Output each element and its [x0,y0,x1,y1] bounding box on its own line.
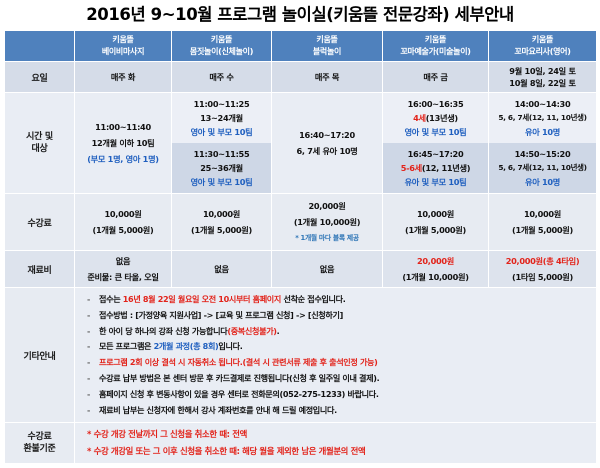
row-fee: 수강료 10,000원 (1개월 5,000원) 10,000원 (1개월 5,… [5,194,597,251]
fee-cell-2-amount: 10,000원 [203,208,240,220]
other-info-item-run: 접수방법 : [가정양육 지원사업] -> [교육 및 프로그램 신청] -> … [99,310,343,320]
day-cell-2: 매주 수 [172,62,272,93]
time-cell-1: 11:00~11:40 12개월 이하 10팀 (부모 1명, 영아 1명) [75,93,172,194]
header-program-3: 키움뜰 블럭놀이 [272,31,383,62]
time-cell-5-bottom: 14:50~15:20 5, 6, 7세(12, 11, 10년생) 유아 10… [489,143,596,193]
header-program-1: 키움뜰 베이비마사지 [75,31,172,62]
fee-cell-4-amount: 10,000원 [417,208,454,220]
day-cell-5-line1: 9월 10일, 24일 토 [489,65,596,77]
row-label-time-line1: 시간 및 [5,131,74,143]
other-info-item-run: 선착순 접수입니다. [281,294,345,304]
refund-policy-text: * 수강 개강 전날까지 그 신청을 취소한 때: 전액 * 수강 개강일 또는… [75,423,597,464]
material-cell-2: 없음 [172,251,272,288]
material-cell-3-amount: 없음 [320,263,334,275]
header-program-4-line1: 키움뜰 [383,34,488,46]
time-cell-4: 16:00~16:35 4세(13년생) 영아 및 부모 10팀 16:45~1… [383,93,489,194]
row-label-day: 요일 [5,62,75,93]
fee-cell-5-sub: (1개월 5,000원) [512,224,573,236]
time-cell-5-bottom-time: 14:50~15:20 [515,148,571,160]
fee-cell-5: 10,000원 (1개월 5,000원) [489,194,597,251]
header-program-2-line2: 몸짓놀이(신체놀이) [172,46,271,58]
material-cell-1: 없음 준비물: 큰 타올, 오일 [75,251,172,288]
time-cell-5-top-time: 14:00~14:30 [515,98,571,110]
day-cell-3-line1: 매주 목 [272,71,382,83]
other-info-item: -수강료 납부 방법은 본 센터 방문 후 카드결제로 진행됩니다(신청 후 일… [87,371,596,387]
bullet-dash-icon: - [87,403,99,419]
time-cell-4-bottom-age-red: 5-6세 [401,163,422,173]
time-cell-4-top: 16:00~16:35 4세(13년생) 영아 및 부모 10팀 [383,93,488,143]
material-cell-4-amount: 20,000원 [417,255,454,267]
time-cell-5-bottom-target: 유아 10명 [525,176,560,188]
time-cell-4-bottom: 16:45~17:20 5-6세(12, 11년생) 유아 및 부모 10팀 [383,143,488,193]
header-program-3-line2: 블럭놀이 [272,46,382,58]
time-cell-2-bottom-time: 11:30~11:55 [194,148,250,160]
other-info-item-run: 입니다. [218,341,242,351]
material-cell-5-amount: 20,000원(총 4타임) [506,255,580,267]
fee-cell-3: 20,000원 (1개월 10,000원) * 1개월 마다 블록 제공 [272,194,383,251]
material-cell-4: 20,000원 (1개월 10,000원) [383,251,489,288]
header-corner-cell [5,31,75,62]
material-cell-3: 없음 [272,251,383,288]
row-material-fee: 재료비 없음 준비물: 큰 타올, 오일 없음 없음 20,000원 [5,251,597,288]
day-cell-5: 9월 10일, 24일 토 10월 8일, 22일 토 [489,62,597,93]
row-label-refund-policy: 수강료 환불기준 [5,423,75,464]
other-info-item-run: 모든 프로그램은 [99,341,154,351]
refund-policy-line-1: * 수강 개강 전날까지 그 신청을 취소한 때: 전액 [87,426,596,443]
other-info-item-run: . [277,326,280,336]
time-cell-4-top-time: 16:00~16:35 [408,98,464,110]
page-title: 2016년 9~10월 프로그램 놀이실(키움뜰 전문강좌) 세부안내 [0,0,600,30]
day-cell-1: 매주 화 [75,62,172,93]
time-cell-5-top-target: 유아 10명 [525,126,560,138]
other-info-item: -모든 프로그램은 2개월 과정(총 8회)입니다. [87,339,596,355]
header-program-3-line1: 키움뜰 [272,34,382,46]
other-info-item: -접수는 16년 8월 22일 월요일 오전 10시부터 홈페이지 선착순 접수… [87,292,596,308]
other-info-item-run: 16년 8월 22일 월요일 오전 10시부터 홈페이지 [123,294,281,304]
time-cell-2-top-age: 13~24개월 [200,112,243,124]
header-program-5-line1: 키움뜰 [489,34,596,46]
other-info-item-run: 2개월 과정(총 8회) [154,341,219,351]
day-cell-2-line1: 매주 수 [172,71,271,83]
fee-cell-1-amount: 10,000원 [104,208,141,220]
time-cell-3: 16:40~17:20 6, 7세 유아 10명 [272,93,383,194]
row-label-time-line2: 대상 [5,143,74,155]
material-cell-5: 20,000원(총 4타임) (1타임 5,000원) [489,251,597,288]
row-label-refund-line1: 수강료 [5,431,74,443]
header-program-1-line2: 베이비마사지 [75,46,171,58]
row-label-refund-line2: 환불기준 [5,443,74,455]
header-program-5: 키움뜰 꼬마요리사(영어) [489,31,597,62]
time-cell-4-bottom-target: 유아 및 부모 10팀 [405,176,467,188]
fee-cell-2: 10,000원 (1개월 5,000원) [172,194,272,251]
other-info-list: -접수는 16년 8월 22일 월요일 오전 10시부터 홈페이지 선착순 접수… [75,288,597,423]
time-cell-4-top-target: 영아 및 부모 10팀 [405,126,467,138]
row-other-info: 기타안내 -접수는 16년 8월 22일 월요일 오전 10시부터 홈페이지 선… [5,288,597,423]
other-info-item-run: 프로그램 2회 이상 결석 시 자동취소 됩니다.(결석 시 관련서류 제출 후… [99,357,378,367]
header-program-4: 키움뜰 꼬마예술가(미술놀이) [383,31,489,62]
other-info-item-run: 한 아이 당 하나의 강좌 신청 가능합니다 [99,326,227,336]
time-cell-2-top: 11:00~11:25 13~24개월 영아 및 부모 10팀 [172,93,271,143]
fee-cell-4: 10,000원 (1개월 5,000원) [383,194,489,251]
fee-cell-2-sub: (1개월 5,000원) [191,224,252,236]
fee-cell-1: 10,000원 (1개월 5,000원) [75,194,172,251]
header-program-1-line1: 키움뜰 [75,34,171,46]
time-cell-5-bottom-age: 5, 6, 7세(12, 11, 10년생) [498,162,586,174]
time-cell-5-top-age: 5, 6, 7세(12, 11, 10년생) [498,112,586,124]
time-cell-1-note: (부모 1명, 영아 1명) [87,153,159,165]
schedule-table: 키움뜰 베이비마사지 키움뜰 몸짓놀이(신체놀이) 키움뜰 블럭놀이 키움뜰 꼬… [4,30,597,464]
other-info-item-run: 홈페이지 신청 후 변동사항이 있을 경우 센터로 전화문의(052-275-1… [99,389,379,399]
bullet-dash-icon: - [87,371,99,387]
fee-cell-3-sub: (1개월 10,000원) [294,216,360,228]
time-cell-4-bottom-time: 16:45~17:20 [408,148,464,160]
material-cell-4-sub: (1개월 10,000원) [402,271,468,283]
material-cell-5-sub: (1타임 5,000원) [512,271,573,283]
fee-cell-3-note: * 1개월 마다 블록 제공 [295,232,359,244]
row-label-other-info: 기타안내 [5,288,75,423]
time-cell-2-top-time: 11:00~11:25 [194,98,250,110]
time-cell-5: 14:00~14:30 5, 6, 7세(12, 11, 10년생) 유아 10… [489,93,597,194]
other-info-item: -프로그램 2회 이상 결석 시 자동취소 됩니다.(결석 시 관련서류 제출 … [87,355,596,371]
row-day: 요일 매주 화 매주 수 매주 목 매주 금 9월 10일, 24일 토 10월… [5,62,597,93]
time-cell-4-top-age-rest: (13년생) [426,113,458,123]
header-program-4-line2: 꼬마예술가(미술놀이) [383,46,488,58]
fee-cell-1-sub: (1개월 5,000원) [93,224,154,236]
time-cell-4-bottom-age-rest: (12, 11년생) [422,163,470,173]
bullet-dash-icon: - [87,339,99,355]
time-cell-3-target: 6, 7세 유아 10명 [297,145,358,157]
bullet-dash-icon: - [87,387,99,403]
day-cell-5-line2: 10월 8일, 22일 토 [489,77,596,89]
time-cell-2-top-target: 영아 및 부모 10팀 [191,126,253,138]
fee-cell-4-sub: (1개월 5,000원) [405,224,466,236]
time-cell-3-time: 16:40~17:20 [299,129,355,141]
other-info-item: -접수방법 : [가정양육 지원사업] -> [교육 및 프로그램 신청] ->… [87,308,596,324]
day-cell-3: 매주 목 [272,62,383,93]
bullet-dash-icon: - [87,308,99,324]
refund-policy-line-2: * 수강 개강일 또는 그 이후 신청을 취소한 때: 해당 월을 제외한 남은… [87,443,596,460]
time-cell-4-bottom-age: 5-6세(12, 11년생) [401,162,470,174]
fee-cell-5-amount: 10,000원 [524,208,561,220]
day-cell-1-line1: 매주 화 [75,71,171,83]
time-cell-2-bottom-age: 25~36개월 [200,162,243,174]
time-cell-4-top-age: 4세(13년생) [413,112,458,124]
other-info-item-run: 재료비 납부는 신청자에 한해서 강사 계좌번호를 안내 해 드릴 예정입니다. [99,405,337,415]
other-info-item: -홈페이지 신청 후 변동사항이 있을 경우 센터로 전화문의(052-275-… [87,387,596,403]
time-cell-2: 11:00~11:25 13~24개월 영아 및 부모 10팀 11:30~11… [172,93,272,194]
material-cell-1-amount: 없음 [116,255,130,267]
program-schedule-page: 2016년 9~10월 프로그램 놀이실(키움뜰 전문강좌) 세부안내 키움뜰 … [0,0,600,468]
header-program-2: 키움뜰 몸짓놀이(신체놀이) [172,31,272,62]
other-info-item-run: (중복신청불가) [227,326,276,336]
row-refund-policy: 수강료 환불기준 * 수강 개강 전날까지 그 신청을 취소한 때: 전액 * … [5,423,597,464]
time-cell-1-target: 12개월 이하 10팀 [92,137,155,149]
header-program-2-line1: 키움뜰 [172,34,271,46]
row-label-time-target: 시간 및 대상 [5,93,75,194]
other-info-item-run: 수강료 납부 방법은 본 센터 방문 후 카드결제로 진행됩니다(신청 후 일주… [99,373,379,383]
other-info-item-run: 접수는 [99,294,123,304]
time-cell-2-bottom-target: 영아 및 부모 10팀 [191,176,253,188]
other-info-item: -재료비 납부는 신청자에 한해서 강사 계좌번호를 안내 해 드릴 예정입니다… [87,403,596,419]
bullet-dash-icon: - [87,292,99,308]
fee-cell-3-amount: 20,000원 [308,200,345,212]
row-time-target: 시간 및 대상 11:00~11:40 12개월 이하 10팀 (부모 1명, … [5,93,597,194]
table-header-row: 키움뜰 베이비마사지 키움뜰 몸짓놀이(신체놀이) 키움뜰 블럭놀이 키움뜰 꼬… [5,31,597,62]
material-cell-1-sub: 준비물: 큰 타올, 오일 [87,271,158,283]
material-cell-2-amount: 없음 [214,263,228,275]
other-info-item: -한 아이 당 하나의 강좌 신청 가능합니다(중복신청불가). [87,324,596,340]
bullet-dash-icon: - [87,355,99,371]
other-info-items: -접수는 16년 8월 22일 월요일 오전 10시부터 홈페이지 선착순 접수… [87,292,596,418]
row-label-fee: 수강료 [5,194,75,251]
time-cell-5-top: 14:00~14:30 5, 6, 7세(12, 11, 10년생) 유아 10… [489,93,596,143]
day-cell-4-line1: 매주 금 [383,71,488,83]
time-cell-4-top-age-red: 4세 [413,113,426,123]
time-cell-1-time: 11:00~11:40 [95,121,151,133]
row-label-material-fee: 재료비 [5,251,75,288]
day-cell-4: 매주 금 [383,62,489,93]
time-cell-2-bottom: 11:30~11:55 25~36개월 영아 및 부모 10팀 [172,143,271,193]
header-program-5-line2: 꼬마요리사(영어) [489,46,596,58]
bullet-dash-icon: - [87,324,99,340]
